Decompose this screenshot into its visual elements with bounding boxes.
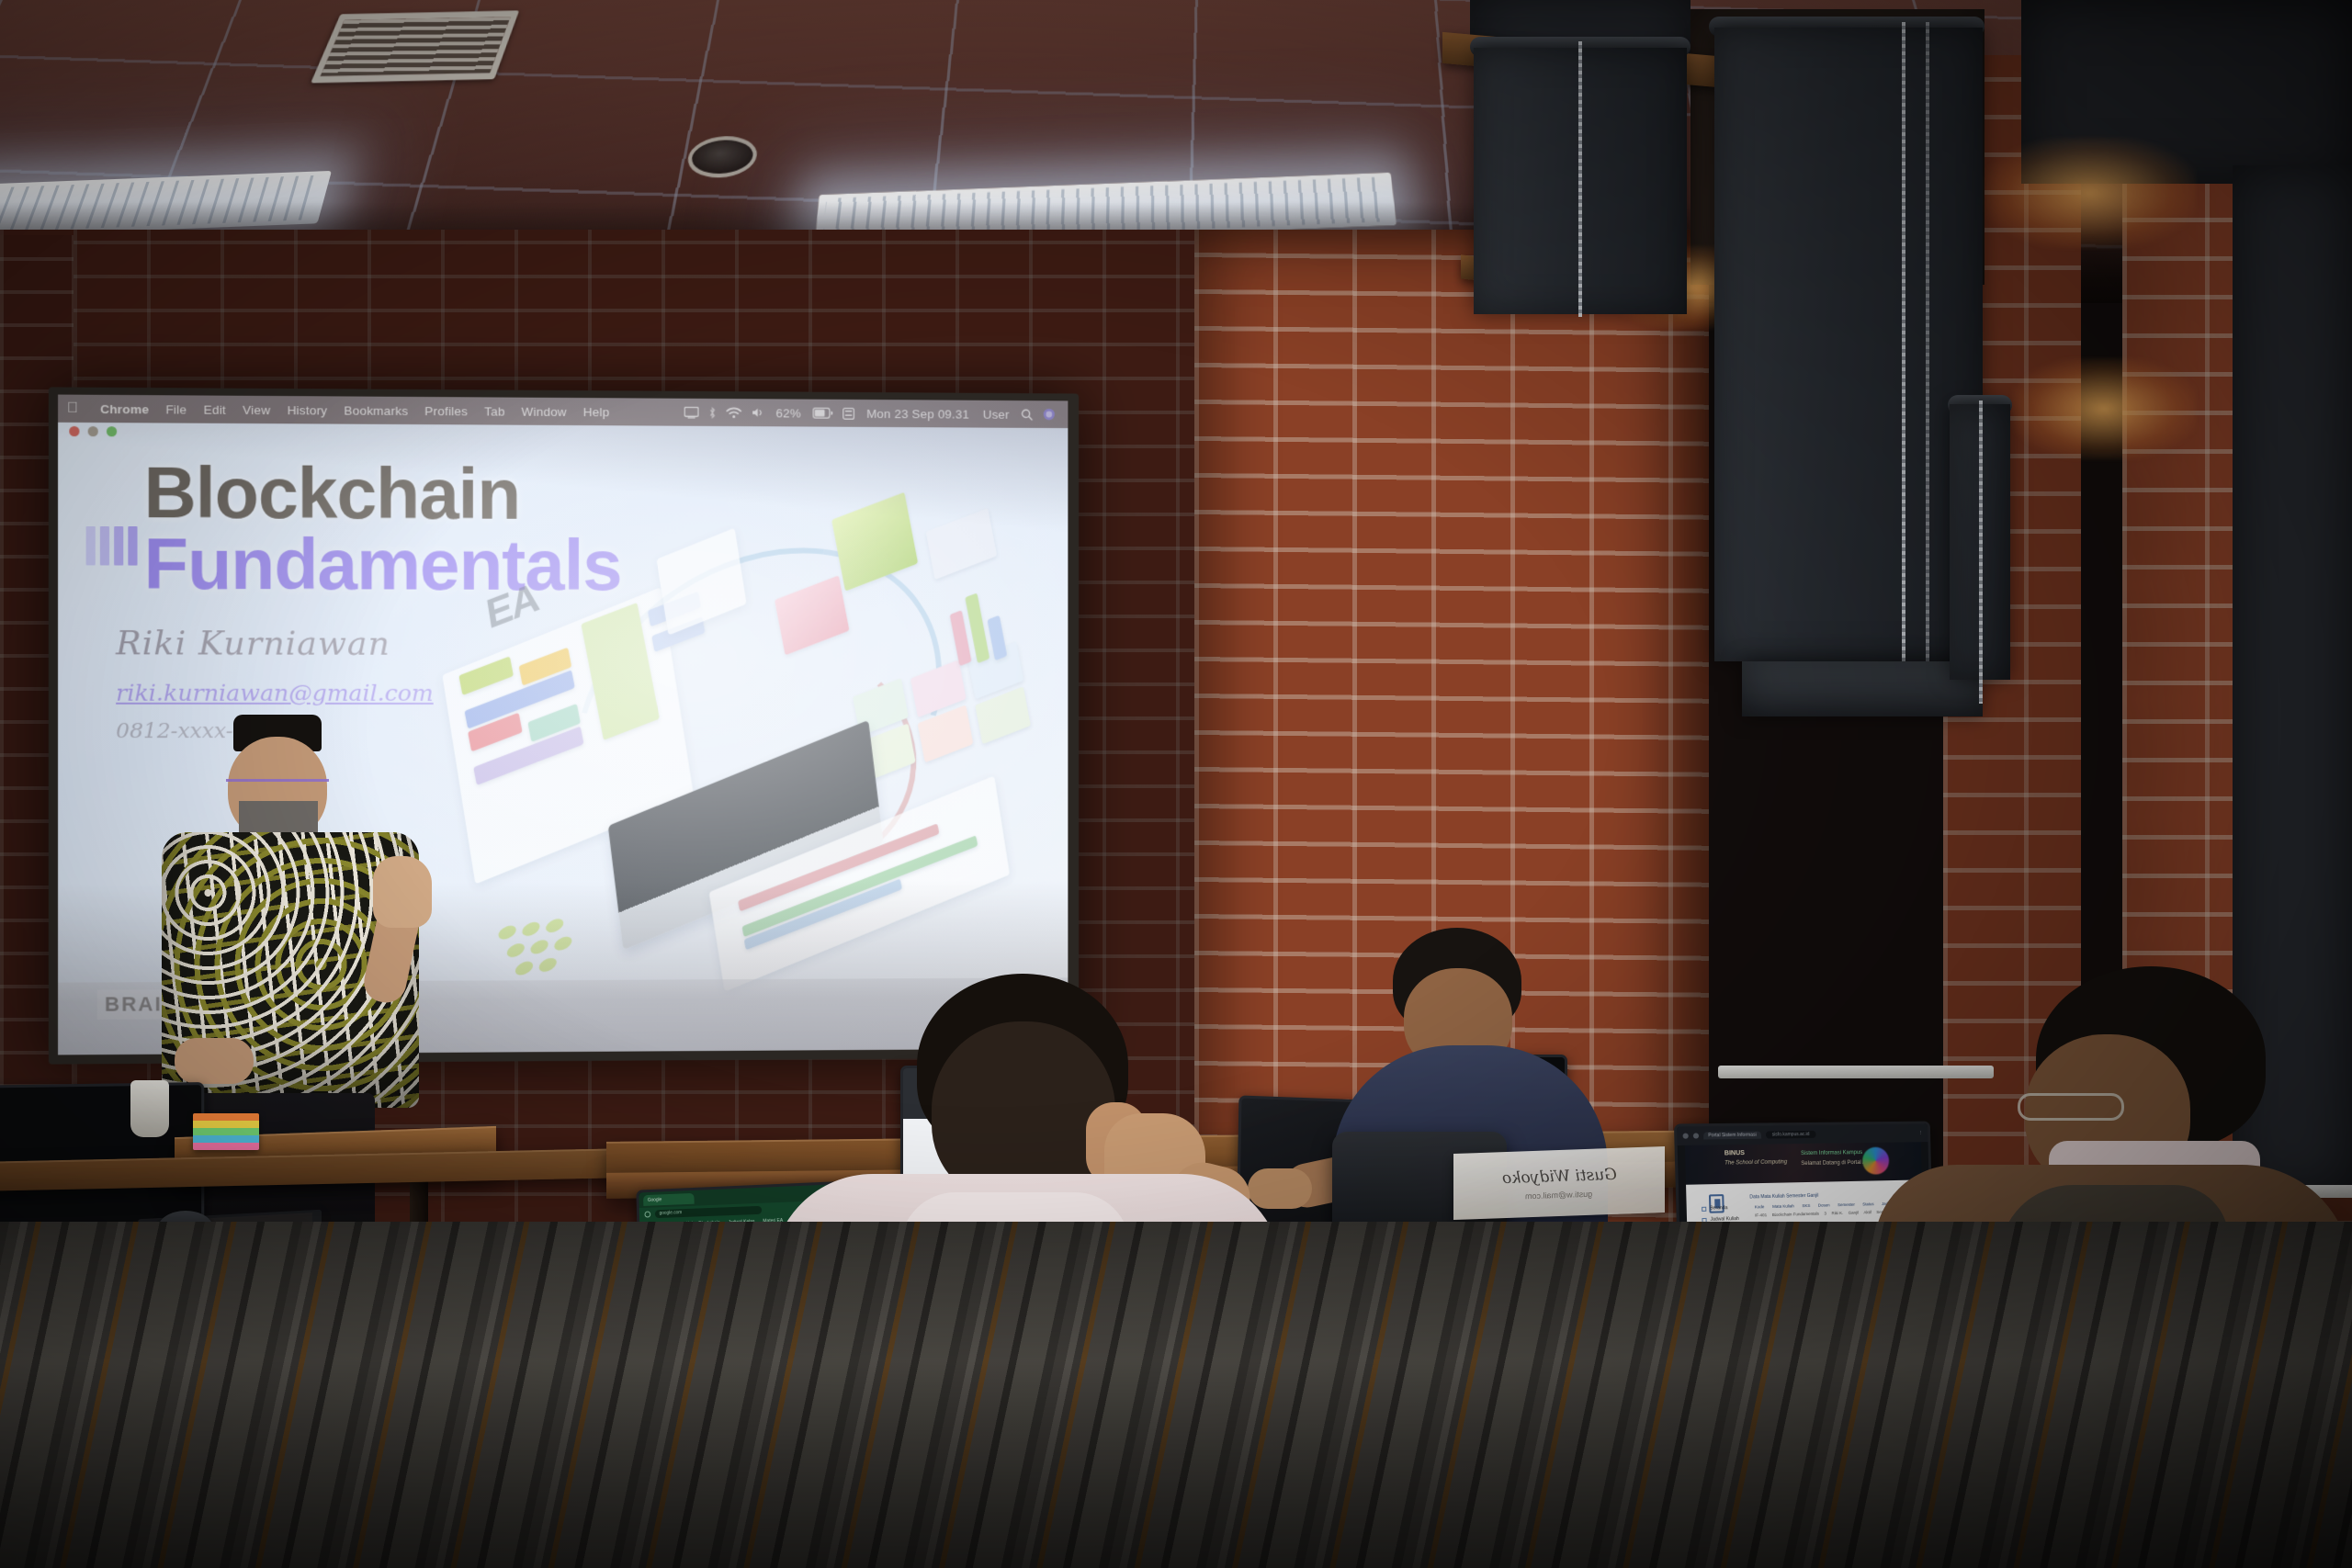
artwork-cube-white <box>926 508 998 580</box>
slide-isometric-artwork: EA <box>428 492 1069 1003</box>
browser-menu-icon[interactable]: ⋮ <box>1918 1130 1922 1135</box>
site-page-heading: Data Mata Kuliah Semester Ganjil <box>1749 1192 1818 1200</box>
td-1: Blockchain Fundamentals <box>1772 1211 1819 1216</box>
slide-accent-bars <box>86 526 138 566</box>
windows-address-bar[interactable]: sisfo.kampus.ac.id <box>1766 1131 1816 1139</box>
blind-chain-2b[interactable] <box>1926 22 1929 665</box>
apple-logo-icon[interactable]:  <box>67 401 78 416</box>
browser-forward-icon[interactable] <box>1693 1133 1699 1138</box>
white-mug[interactable] <box>130 1080 169 1137</box>
site-banner: BINUS The School of Computing Sistem Inf… <box>1685 1142 1921 1185</box>
menu-item-window[interactable]: Window <box>514 404 575 418</box>
chrome-tab-google[interactable]: Google <box>643 1192 695 1205</box>
th-3: Dosen <box>1818 1203 1830 1208</box>
th-0: Kode <box>1755 1204 1765 1209</box>
volume-icon[interactable] <box>752 407 764 418</box>
name-card-2-sub: gusti.w@mail.com <box>1525 1189 1592 1201</box>
screen-mirroring-icon[interactable] <box>684 406 698 418</box>
control-center-icon[interactable] <box>842 407 854 419</box>
window-sill-rail <box>1718 1066 1994 1078</box>
spotlight-search-icon[interactable] <box>1021 408 1033 420</box>
zoom-icon[interactable] <box>107 426 117 436</box>
artwork-cube-green <box>831 492 918 592</box>
presenter-glasses-icon <box>226 779 329 789</box>
td-0: IF-401 <box>1755 1213 1767 1217</box>
td-2: 3 <box>1824 1211 1826 1215</box>
td-5: Aktif <box>1863 1210 1871 1214</box>
macos-menu-bar:  Chrome File Edit View History Bookmark… <box>58 395 1068 429</box>
td-3: Riki K. <box>1831 1211 1843 1215</box>
menubar-datetime: Mon 23 Sep 09.31 <box>865 406 971 421</box>
menu-item-edit[interactable]: Edit <box>195 402 234 416</box>
menu-item-chrome[interactable]: Chrome <box>92 401 157 416</box>
menu-item-file[interactable]: File <box>157 402 195 416</box>
th-2: SKS <box>1802 1203 1810 1208</box>
site-banner-title: BINUS <box>1724 1150 1745 1156</box>
browser-back-icon[interactable] <box>1682 1134 1688 1139</box>
battery-icon[interactable] <box>813 408 833 419</box>
site-banner-right-1: Sistem Informasi Kampus <box>1801 1150 1862 1156</box>
menu-item-profiles[interactable]: Profiles <box>416 403 476 417</box>
roller-blind-2-bottom-rail <box>1742 661 1983 716</box>
slide-title-line1: Blockchain <box>144 458 844 530</box>
reload-icon[interactable] <box>644 1211 650 1217</box>
chevron-icon <box>1702 1207 1706 1212</box>
wifi-icon[interactable] <box>726 407 741 419</box>
menu-item-help[interactable]: Help <box>575 405 617 419</box>
blind-chain-3[interactable] <box>1979 400 1983 704</box>
th-1: Mata Kuliah <box>1772 1204 1794 1210</box>
name-card-2: Gusti Widyoko gusti.w@mail.com <box>1453 1146 1665 1220</box>
floor-shading <box>0 1222 2352 1568</box>
menu-item-history[interactable]: History <box>278 403 335 417</box>
menu-item-view[interactable]: View <box>234 402 278 416</box>
warm-uplight-2 <box>1984 138 2196 248</box>
th-5: Status <box>1862 1202 1873 1207</box>
siri-icon[interactable] <box>1043 408 1056 421</box>
floor <box>0 1222 2352 1568</box>
artwork-dot-cluster <box>498 886 622 993</box>
participant-right-glasses-icon <box>2018 1093 2124 1121</box>
warm-uplight-3 <box>2012 358 2196 459</box>
window-traffic-lights[interactable] <box>69 426 117 436</box>
roller-blind-2[interactable] <box>1714 28 1983 661</box>
blind-chain-1[interactable] <box>1578 41 1582 317</box>
screenshot-root:  Chrome File Edit View History Bookmark… <box>0 0 2352 1568</box>
menu-item-tab[interactable]: Tab <box>476 404 513 418</box>
minimize-icon[interactable] <box>88 426 98 436</box>
sidebar-item-0[interactable]: Beranda <box>1702 1205 1750 1212</box>
sidebar-label-0: Beranda <box>1710 1205 1727 1212</box>
bluetooth-icon[interactable] <box>708 406 716 418</box>
artwork-ea-label: EA <box>483 574 540 638</box>
td-4: Ganjil <box>1849 1210 1859 1214</box>
name-card-2-name: Gusti Widyoko <box>1502 1165 1617 1187</box>
menu-item-bookmarks[interactable]: Bookmarks <box>335 403 416 418</box>
th-4: Semester <box>1837 1202 1855 1207</box>
sticky-notes[interactable] <box>193 1113 259 1150</box>
blind-chain-2[interactable] <box>1902 22 1905 665</box>
air-vent-icon <box>311 10 519 83</box>
battery-percent-label: 62% <box>774 406 802 420</box>
close-icon[interactable] <box>69 426 79 436</box>
windows-browser-tab[interactable]: Portal Sistem Informasi <box>1703 1132 1761 1140</box>
menubar-user-label[interactable]: User <box>981 407 1012 421</box>
site-banner-orb-graphic <box>1862 1147 1890 1175</box>
presenter-left-hand <box>175 1038 254 1084</box>
site-banner-subtitle: The School of Computing <box>1724 1159 1787 1166</box>
presenter-right-hand <box>373 856 432 928</box>
